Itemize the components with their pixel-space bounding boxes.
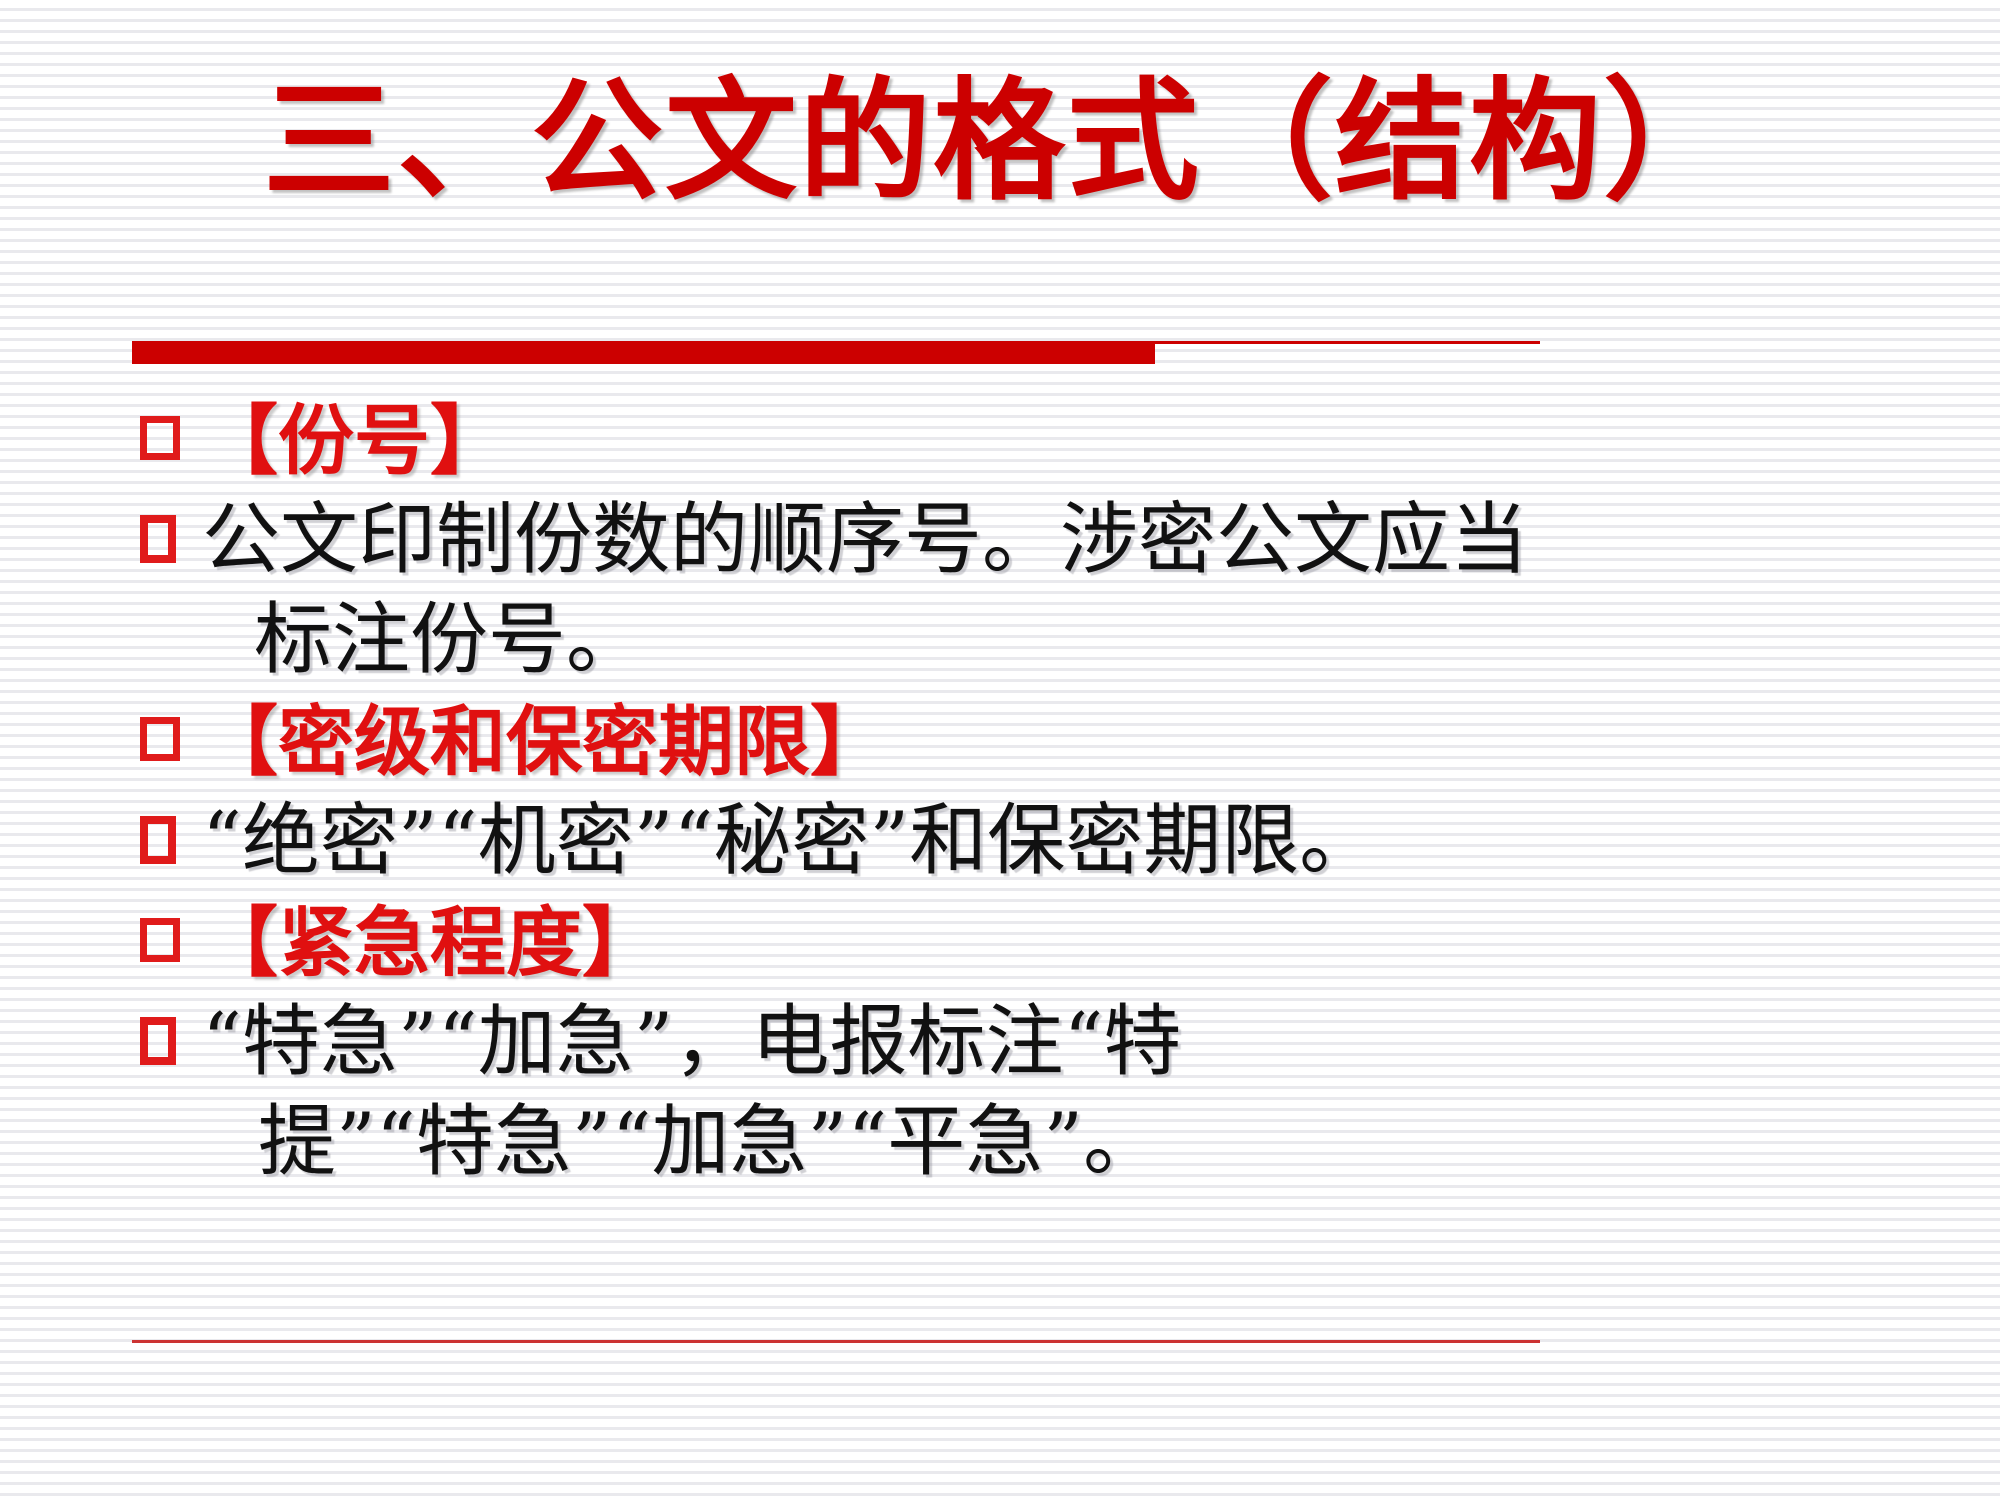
bullet-line-2: 标注份号。 [202,591,1920,691]
bullet-body-text: 公文印制份数的顺序号。涉密公文应当标注份号。 [202,491,1920,691]
page-title: 三、公文的格式（结构） [263,68,1737,216]
bullet-heading-text: 【密级和保密期限】 [202,693,1920,790]
title-divider [132,338,1540,364]
divider-thick-bar [132,342,1155,364]
bullet-line-1: 公文印制份数的顺序号。涉密公文应当 [202,495,1528,585]
hollow-square-bullet-icon [140,416,184,460]
bullet-heading-text: 【份号】 [202,392,1920,489]
list-item: “绝密”“机密”“秘密”和保密期限。 [140,792,1920,892]
list-item: 【份号】 [140,392,1920,489]
slide-canvas: 三、公文的格式（结构） 【份号】 公文印制份数的顺序号。涉密公文应当标注份号。 … [0,0,2000,1500]
hollow-square-bullet-icon [140,515,184,559]
list-item: 【密级和保密期限】 [140,693,1920,790]
footer-rule [132,1340,1540,1343]
bullet-line-2: 提”“特急”“加急”“平急”。 [202,1093,1920,1193]
hollow-square-bullet-icon [140,717,184,761]
list-item: 【紧急程度】 [140,894,1920,991]
bullet-body-text: “绝密”“机密”“秘密”和保密期限。 [202,792,1920,892]
bullet-heading-text: 【紧急程度】 [202,894,1920,991]
title-area: 三、公文的格式（结构） [0,42,2000,242]
list-item: 公文印制份数的顺序号。涉密公文应当标注份号。 [140,491,1920,691]
list-item: “特急”“加急”，电报标注“特提”“特急”“加急”“平急”。 [140,993,1920,1193]
bullet-body-text: “特急”“加急”，电报标注“特提”“特急”“加急”“平急”。 [202,993,1920,1193]
bullet-list: 【份号】 公文印制份数的顺序号。涉密公文应当标注份号。 【密级和保密期限】 “绝… [140,392,1920,1195]
hollow-square-bullet-icon [140,816,184,860]
bullet-line-1: “特急”“加急”，电报标注“特 [202,997,1181,1087]
hollow-square-bullet-icon [140,918,184,962]
hollow-square-bullet-icon [140,1017,184,1061]
